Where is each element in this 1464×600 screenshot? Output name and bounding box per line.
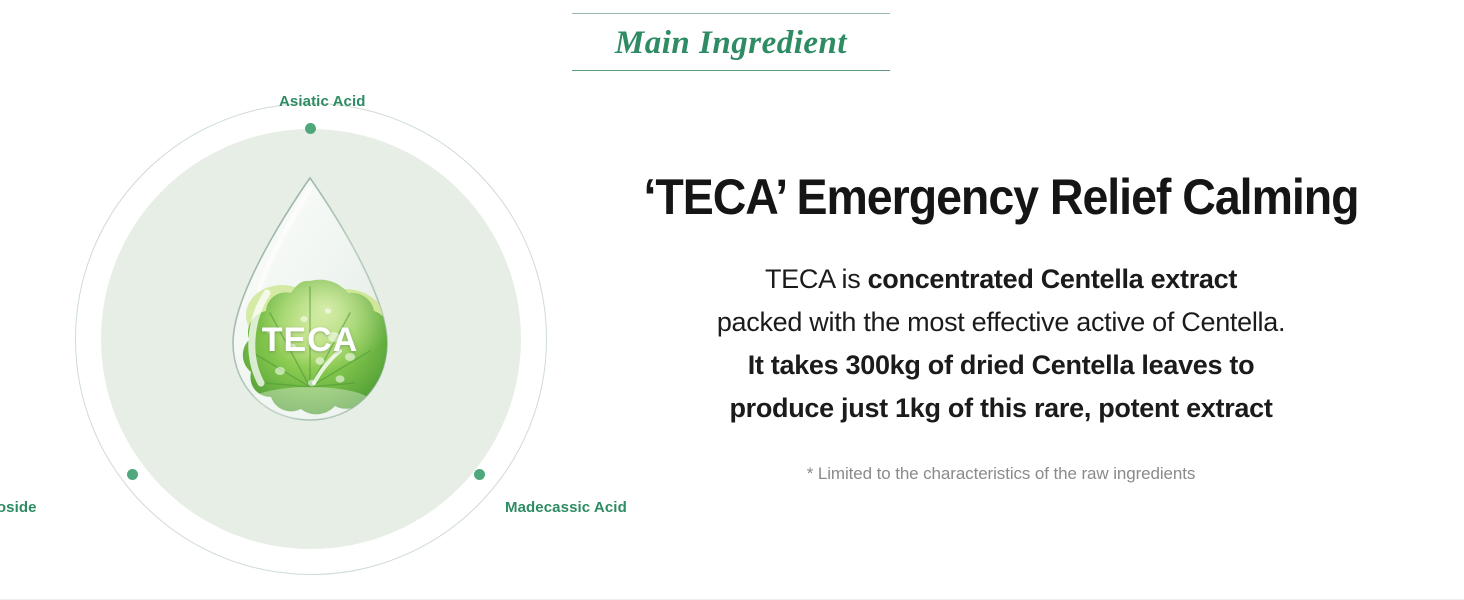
body-line-3-run-1: It takes 300kg of dried Centella leaves … [748, 350, 1255, 380]
node-dot-asiaticoside [127, 469, 138, 480]
body-line-2: packed with the most effective active of… [556, 301, 1446, 344]
body-line-4-run-1: produce just 1kg of this rare, potent ex… [729, 393, 1272, 423]
eyebrow-rule-wrap: Main Ingredient [572, 13, 890, 71]
footnote: * Limited to the characteristics of the … [556, 464, 1446, 484]
body-copy: TECA is concentrated Centella extractpac… [556, 258, 1446, 430]
body-line-1-run-1: TECA is [765, 264, 868, 294]
body-line-3: It takes 300kg of dried Centella leaves … [556, 344, 1446, 387]
page-title: ‘TECA’ Emergency Relief Calming [587, 170, 1415, 224]
main-ingredient-section: TECA Asiatic Acid Asiaticoside Madecassi… [0, 0, 1464, 600]
node-dot-asiatic-acid [305, 123, 316, 134]
node-label-asiatic-acid: Asiatic Acid [279, 93, 366, 110]
node-label-asiaticoside: Asiaticoside [0, 499, 37, 516]
ingredient-wheel-diagram: TECA Asiatic Acid Asiaticoside Madecassi… [75, 103, 547, 575]
body-line-1: TECA is concentrated Centella extract [556, 258, 1446, 301]
body-line-2-run-1: packed with the most effective active of… [717, 307, 1285, 337]
water-droplet-graphic: TECA [227, 175, 393, 425]
body-line-4: produce just 1kg of this rare, potent ex… [556, 387, 1446, 430]
node-dot-madecassic-acid [474, 469, 485, 480]
copy-block: Main Ingredient ‘TECA’ Emergency Relief … [556, 0, 1446, 600]
body-line-1-run-2: concentrated Centella extract [868, 264, 1237, 294]
section-eyebrow: Main Ingredient [572, 27, 890, 60]
droplet-center-label: TECA [227, 321, 393, 360]
